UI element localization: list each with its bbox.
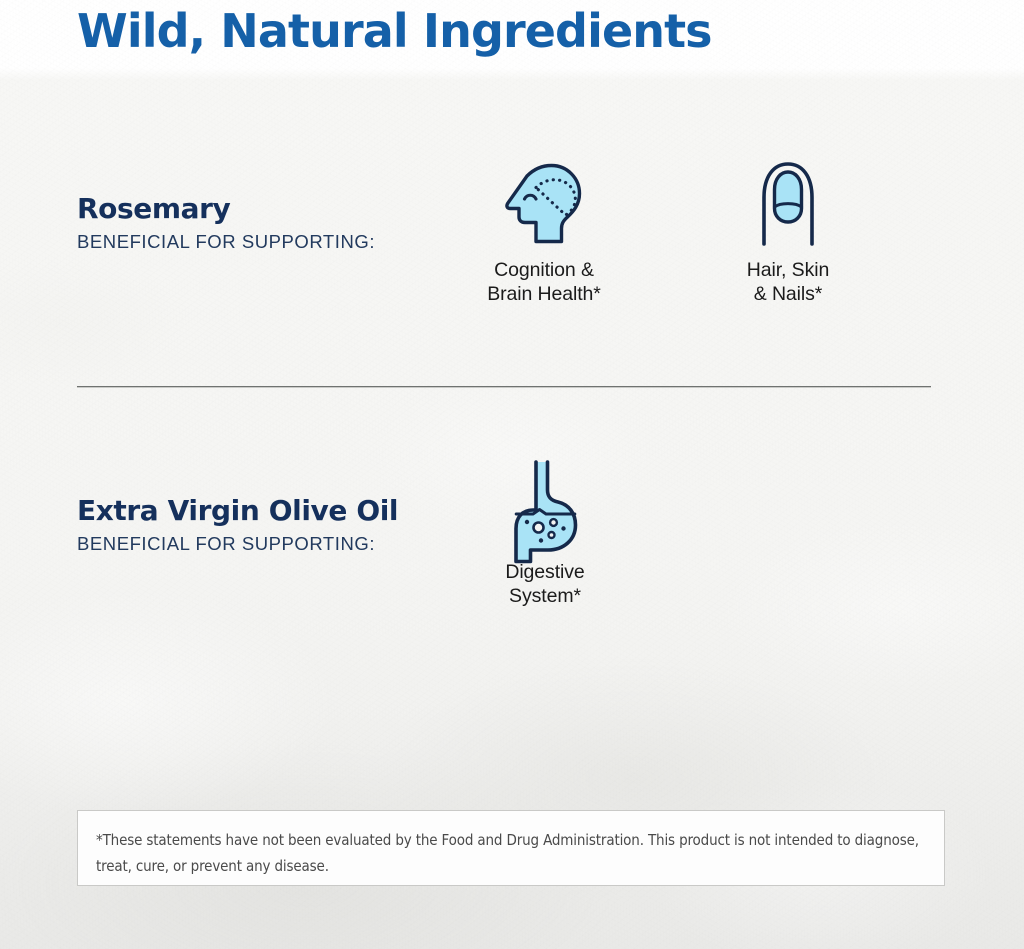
benefit-digestive-system: Digestive System* [450, 462, 640, 608]
head-brain-icon [449, 160, 639, 246]
disclaimer-text: *These statements have not been evaluate… [96, 827, 934, 879]
benefit-label-digestive-system: Digestive System* [450, 561, 640, 608]
ingredients-infographic: Wild, Natural Ingredients Rosemary BENEF… [0, 0, 1024, 949]
benefit-cognition-brain-health: Cognition & Brain Health* [449, 160, 639, 306]
benefit-hair-skin-nails: Hair, Skin & Nails* [693, 160, 883, 306]
ingredient-name-olive-oil: Extra Virgin Olive Oil [77, 494, 457, 528]
ingredient-heading-group-olive-oil: Extra Virgin Olive Oil BENEFICIAL FOR SU… [77, 494, 457, 557]
ingredient-name-rosemary: Rosemary [77, 192, 457, 226]
page-title: Wild, Natural Ingredients [77, 2, 712, 60]
section-divider [77, 386, 931, 388]
stomach-icon [450, 462, 640, 548]
fingernail-icon [693, 160, 883, 246]
benefit-label-hair-skin-nails: Hair, Skin & Nails* [693, 259, 883, 306]
benefit-label-cognition: Cognition & Brain Health* [449, 259, 639, 306]
ingredient-subhead-rosemary: BENEFICIAL FOR SUPPORTING: [77, 229, 457, 255]
disclaimer-box: *These statements have not been evaluate… [77, 810, 945, 886]
ingredient-subhead-olive-oil: BENEFICIAL FOR SUPPORTING: [77, 531, 457, 557]
ingredient-heading-group-rosemary: Rosemary BENEFICIAL FOR SUPPORTING: [77, 192, 457, 255]
